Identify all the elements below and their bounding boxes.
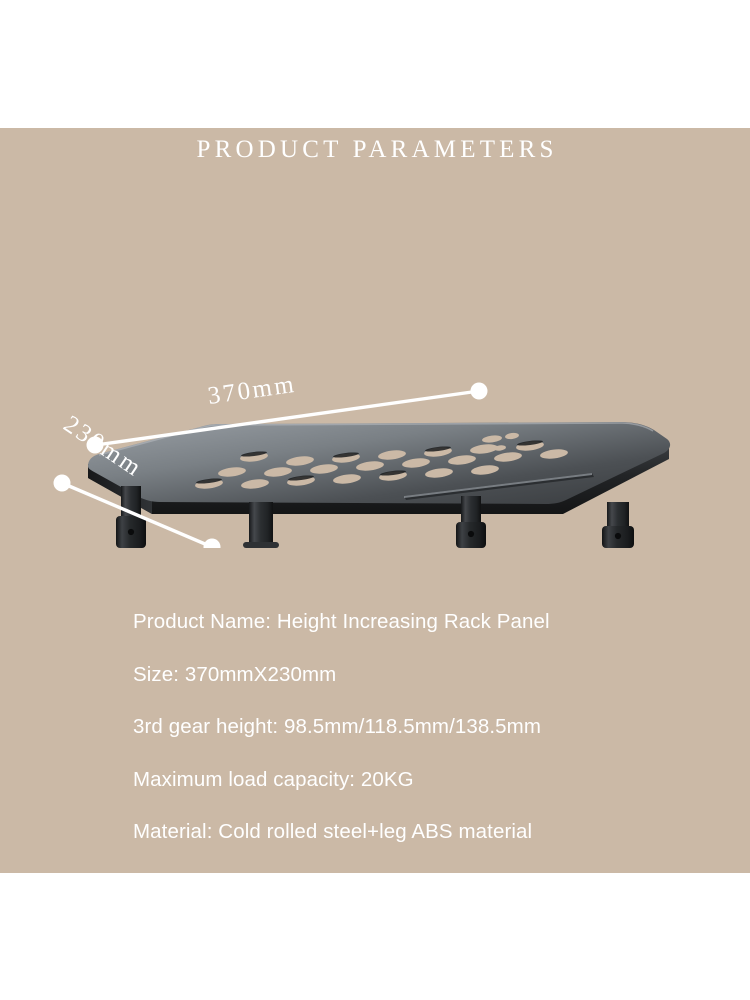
- product-illustration: 370mm 230mm: [0, 128, 750, 548]
- spec-product-name: Product Name: Height Increasing Rack Pan…: [133, 596, 733, 649]
- spec-list: Product Name: Height Increasing Rack Pan…: [133, 596, 733, 859]
- spec-gear-height: 3rd gear height: 98.5mm/118.5mm/138.5mm: [133, 701, 733, 754]
- leg-front-right: [602, 502, 634, 548]
- product-parameters-page: PRODUCT PARAMETERS: [0, 0, 750, 1000]
- width-dimension-label: 370mm: [206, 371, 298, 410]
- spec-material: Material: Cold rolled steel+leg ABS mate…: [133, 806, 733, 859]
- spec-load-capacity: Maximum load capacity: 20KG: [133, 754, 733, 807]
- spec-size: Size: 370mmX230mm: [133, 649, 733, 702]
- stand-top-panel: [88, 422, 670, 514]
